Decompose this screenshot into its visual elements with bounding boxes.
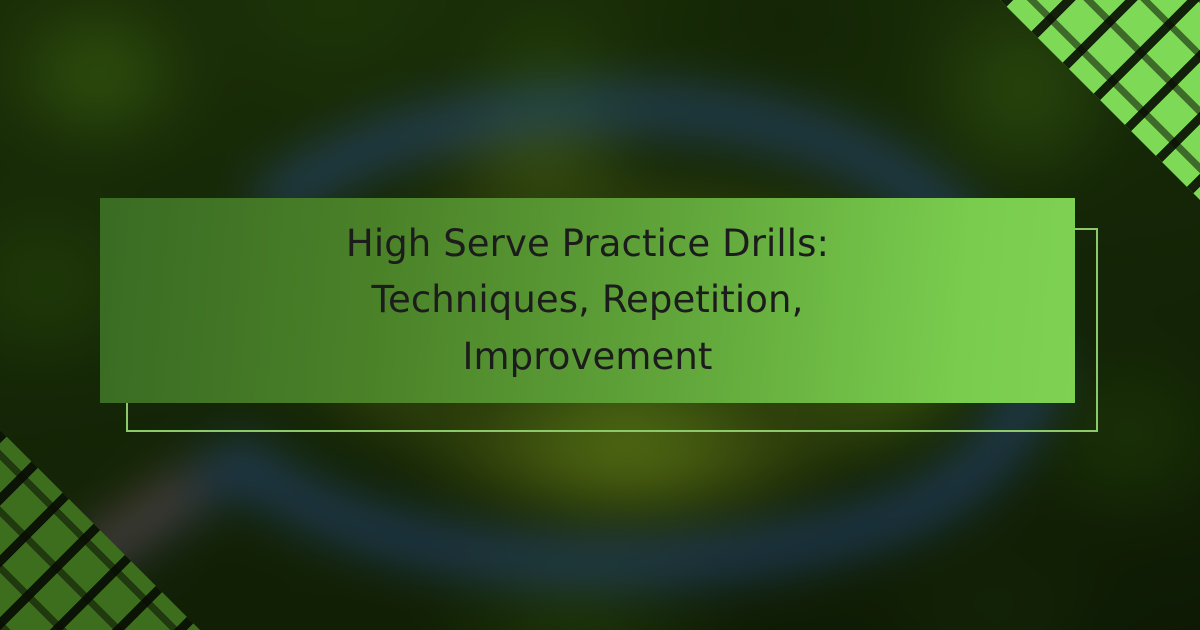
headline-card-inner: High Serve Practice Drills: Techniques, … <box>100 198 1075 403</box>
banner-canvas: High Serve Practice Drills: Techniques, … <box>0 0 1200 630</box>
headline-card: High Serve Practice Drills: Techniques, … <box>100 198 1075 403</box>
page-title: High Serve Practice Drills: Techniques, … <box>248 216 928 385</box>
